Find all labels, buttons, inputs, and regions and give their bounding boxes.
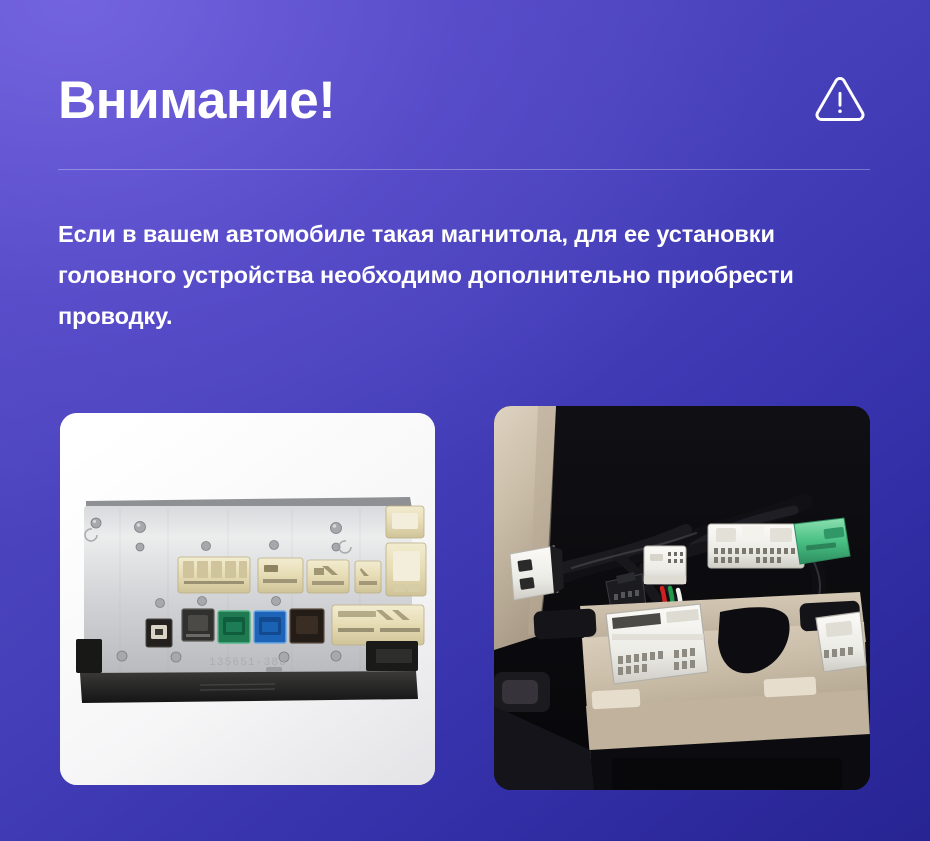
- page-title: Внимание!: [58, 74, 335, 127]
- warning-triangle-icon: [814, 74, 866, 126]
- warning-paragraph: Если в вашем автомобиле такая магнитола,…: [58, 214, 878, 337]
- header-divider: [58, 169, 870, 170]
- warning-slide: Внимание! Если в вашем автомобиле такая …: [0, 0, 930, 841]
- header: Внимание!: [58, 52, 870, 148]
- wiring-harness-photo: [494, 406, 870, 790]
- head-unit-rear-photo: 135651-388: [60, 413, 435, 785]
